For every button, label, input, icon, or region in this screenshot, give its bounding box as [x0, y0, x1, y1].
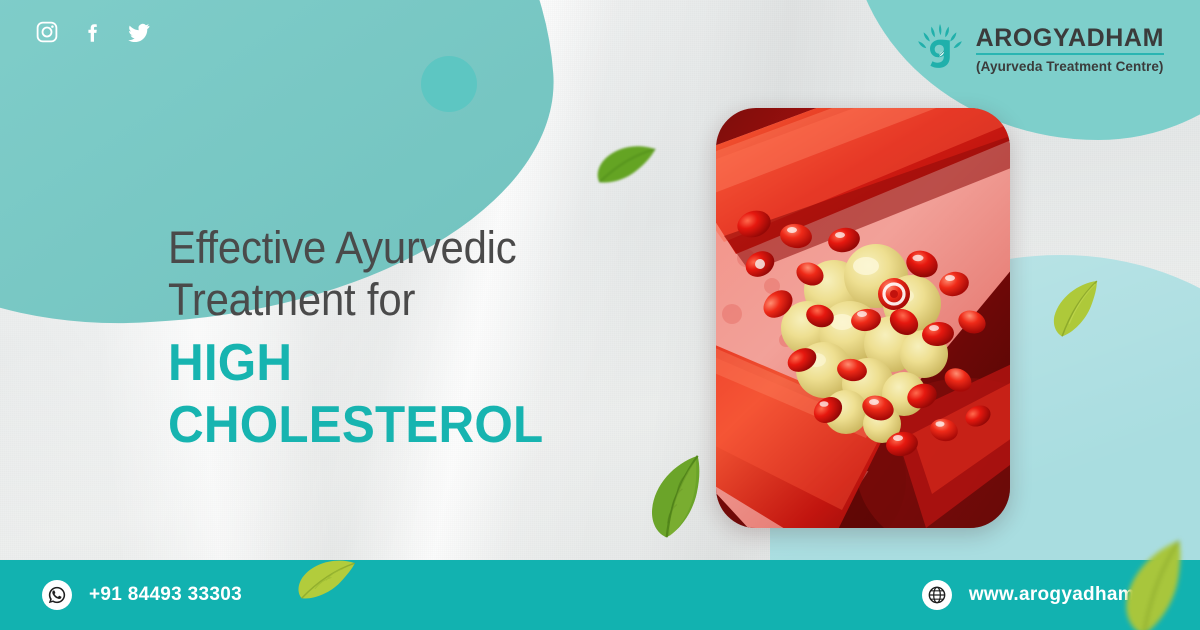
headline-line-1: Effective Ayurvedic: [168, 222, 652, 274]
artery-cholesterol-illustration: [716, 108, 1010, 528]
teal-circle-accent: [421, 56, 477, 112]
brand-logo[interactable]: AROGYADHAM (Ayurveda Treatment Centre): [914, 22, 1164, 78]
social-links: Instagram Facebook Twitter: [35, 20, 151, 44]
social-link-facebook[interactable]: Facebook: [81, 20, 105, 44]
logo-text: AROGYADHAM (Ayurveda Treatment Centre): [976, 26, 1164, 75]
hero-image-card: [716, 108, 1010, 528]
leaf-icon-bottom-left: [284, 543, 366, 615]
phone-number: +91 84493 33303: [89, 584, 242, 606]
globe-icon: [922, 580, 952, 610]
phone-contact[interactable]: +91 84493 33303: [42, 580, 242, 610]
instagram-icon: [35, 20, 59, 44]
social-link-twitter[interactable]: Twitter: [127, 20, 151, 44]
social-link-instagram[interactable]: Instagram: [35, 20, 59, 44]
leaf-tree-a-icon: [914, 22, 966, 78]
footer-contact-bar: +91 84493 33303 www.arogyadham.in: [0, 560, 1200, 630]
logo-tagline: (Ayurveda Treatment Centre): [976, 59, 1164, 74]
headline-emphasis: HIGH CHOLESTEROL: [168, 332, 662, 456]
logo-name: AROGYADHAM: [976, 26, 1164, 56]
twitter-icon: [127, 20, 151, 44]
whatsapp-icon: [42, 580, 72, 610]
facebook-icon: [81, 20, 105, 44]
promo-banner: Instagram Facebook Twitter: [0, 0, 1200, 630]
headline-line-2: Treatment for: [168, 274, 652, 326]
headline-block: Effective Ayurvedic Treatment for HIGH C…: [168, 222, 688, 456]
